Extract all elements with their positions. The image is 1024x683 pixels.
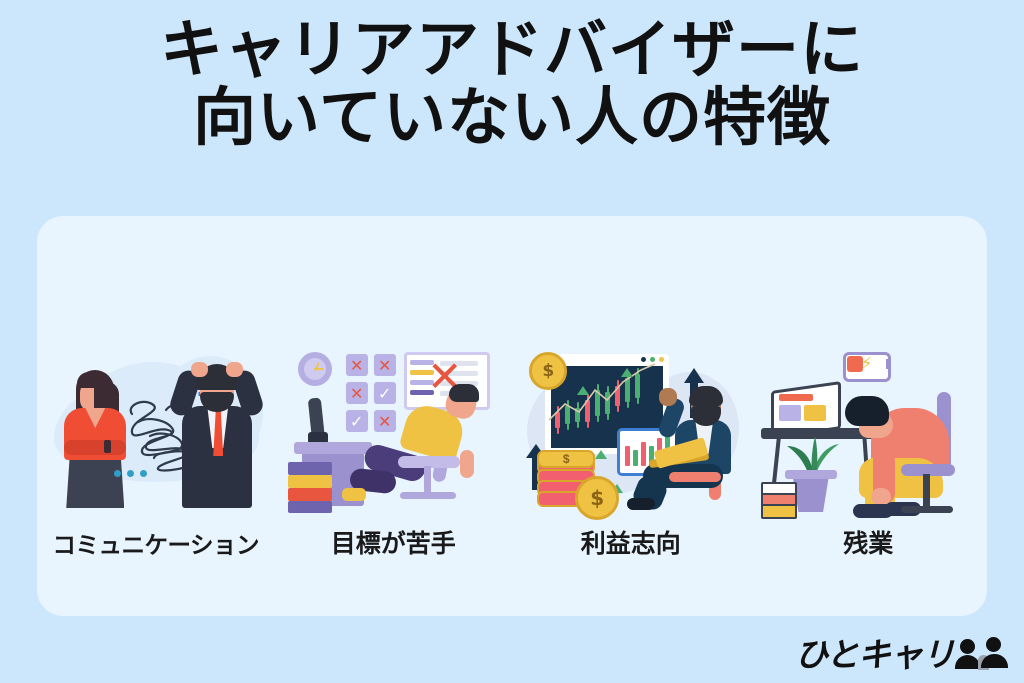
title-line-2: 向いていない人の特徴	[0, 84, 1024, 152]
x-mark-icon: ✕	[378, 412, 391, 431]
check-mark-icon: ✓	[378, 384, 391, 403]
feature-card-row: ?! コミュニケーション	[37, 320, 987, 560]
two-people-confusion-illustration: ?!	[48, 348, 263, 516]
two-people-icon	[958, 637, 1008, 671]
feature-card-communication: ?! コミュニケーション	[37, 320, 275, 560]
card-label-communication: コミュニケーション	[52, 526, 259, 560]
feature-card-goals: ✕ ✕ ✕ ✓ ✓ ✕ ✕	[275, 320, 513, 560]
infographic-page: キャリアアドバイザーに 向いていない人の特徴	[0, 0, 1024, 683]
feature-card-overtime: ⚡	[750, 320, 988, 560]
check-mark-icon: ✓	[350, 412, 363, 431]
page-title: キャリアアドバイザーに 向いていない人の特徴	[0, 16, 1024, 152]
profit-stock-chart-illustration: $	[523, 346, 738, 514]
dollar-coin-icon: $	[537, 450, 595, 468]
card-label-profit: 利益志向	[581, 524, 681, 560]
x-mark-icon: ✕	[350, 356, 363, 375]
title-line-1: キャリアアドバイザーに	[0, 16, 1024, 84]
ellipsis-dots-icon	[114, 470, 147, 477]
dollar-coin-icon: $	[575, 476, 619, 520]
logo-text: ひとキャリ	[795, 638, 954, 671]
card-label-goals: 目標が苦手	[331, 524, 456, 560]
x-mark-icon: ✕	[350, 384, 363, 403]
brand-logo: ひとキャリ	[795, 637, 1008, 671]
card-label-overtime: 残業	[843, 524, 893, 560]
dollar-coin-icon: $	[529, 352, 567, 390]
feature-card-profit: $	[512, 320, 750, 560]
book-icon	[761, 504, 797, 519]
lightning-bolt-icon: ⚡	[861, 355, 873, 373]
slumped-worker-at-desk-illustration: ✕ ✕ ✕ ✓ ✓ ✕ ✕	[286, 346, 501, 514]
x-mark-icon: ✕	[378, 356, 391, 375]
exhausted-overtime-worker-illustration: ⚡	[761, 346, 976, 514]
